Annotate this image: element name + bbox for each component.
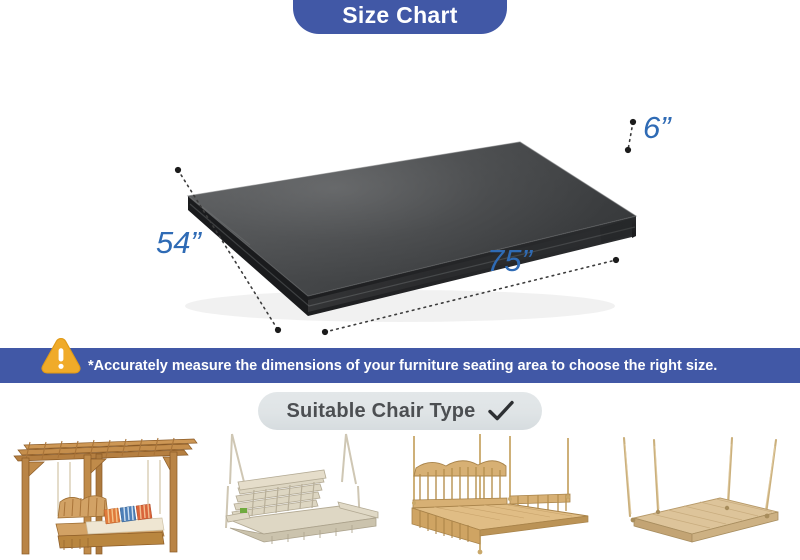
gallery-item-porch-swing-bench: [200, 432, 400, 560]
dim-endpoint-dot: [613, 257, 619, 263]
header-banner: Size Chart: [293, 0, 507, 34]
notice-text: *Accurately measure the dimensions of yo…: [88, 358, 717, 374]
suitable-chair-gallery: [0, 432, 800, 560]
notice-text-wrapper: *Accurately measure the dimensions of yo…: [88, 348, 717, 383]
gallery-item-flat-wooden-swing-bed-platform: [600, 432, 800, 560]
dim-endpoint-dot: [322, 329, 328, 335]
page-title: Size Chart: [342, 2, 457, 29]
dim-endpoint-dot: [275, 327, 281, 333]
suitable-chair-type-badge: Suitable Chair Type: [258, 392, 542, 430]
dim-endpoint-dot: [630, 119, 636, 125]
dim-endpoint-dot: [625, 147, 631, 153]
product-illustration: [0, 38, 800, 343]
dim-endpoint-dot: [175, 167, 181, 173]
gallery-item-wooden-swing-bed-with-scalloped-back: [400, 432, 600, 560]
warning-triangle-icon: [40, 336, 82, 376]
suitable-chair-type-label: Suitable Chair Type: [286, 400, 475, 423]
size-chart-infographic: Size Chart: [0, 0, 800, 560]
dimension-label-length: 75”: [487, 243, 532, 279]
check-mark-icon: [488, 400, 514, 422]
dimension-label-thickness: 6”: [643, 110, 671, 146]
cushion-body: [188, 142, 636, 316]
gallery-item-pergola-with-hanging-swing-bed: [0, 432, 200, 560]
dimension-label-width: 54”: [156, 225, 201, 261]
dimension-line-thickness: [628, 122, 633, 150]
